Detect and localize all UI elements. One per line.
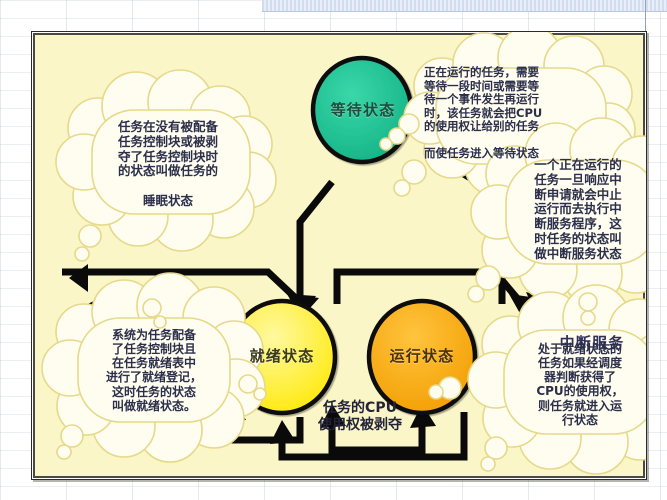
text-line: 的使用权让给别的任务 <box>424 120 612 134</box>
text-line: 的状态叫做任务的 <box>80 164 256 179</box>
text-line: 处于就绪状态的 <box>500 342 647 356</box>
text-line: 任务的CPU <box>294 400 426 417</box>
text-line: 任务控制块或被剥 <box>80 135 256 150</box>
cloud-text-interrupt: 一个正在运行的任务一旦响应中断申请就会中止运行而去执行中断服务程序，这时任务的状… <box>502 158 647 261</box>
text-line: 在任务就绪表中 <box>74 356 234 370</box>
node-label-running: 运行状态 <box>376 345 468 366</box>
diagram-picture-frame[interactable]: 等待状态 就绪状态 运行状态 中断服务 任务在没有被配备任务控制块或被剥夺了任务… <box>31 31 647 480</box>
text-line: 断申请就会中止 <box>502 188 647 203</box>
text-line: 进行了就绪登记， <box>74 370 234 384</box>
text-line: 一个正在运行的 <box>502 158 647 173</box>
text-line: 叫做就绪状态。 <box>74 399 234 413</box>
text-line: 运行而去执行中 <box>502 202 647 217</box>
text-line: 器判断获得了 <box>500 370 647 384</box>
text-line: 时，该任务就会把CPU <box>424 107 612 121</box>
text-line <box>424 134 612 148</box>
text-line: 任务一旦响应中 <box>502 173 647 188</box>
node-label-waiting: 等待状态 <box>317 99 409 120</box>
cloud-text-ready: 系统为任务配备了任务控制块且在任务就绪表中进行了就绪登记，这时任务的状态叫做就绪… <box>74 328 234 413</box>
text-line: 使用权被剥夺 <box>294 417 426 434</box>
text-line: 时任务的状态叫 <box>502 232 647 247</box>
diagram-canvas: 等待状态 就绪状态 运行状态 中断服务 任务在没有被配备任务控制块或被剥夺了任务… <box>32 32 646 479</box>
text-line: 做中断服务状态 <box>502 247 647 262</box>
text-line: 正在运行的任务，需要 <box>424 66 612 80</box>
cloud-text-waiting: 正在运行的任务，需要等待一段时间或需要等待一个事件发生再运行 时，该任务就会把C… <box>424 66 612 161</box>
text-line: 这时任务的状态 <box>74 385 234 399</box>
text-line: 睡眠状态 <box>80 194 256 209</box>
node-label-ready: 就绪状态 <box>236 345 328 366</box>
text-line: 待一个事件发生再运行 <box>424 93 612 107</box>
text-line: 任务在没有被配备 <box>80 120 256 135</box>
text-line: 夺了任务控制块时 <box>80 150 256 165</box>
text-line: 任务如果经调度 <box>500 356 647 370</box>
text-line: 断服务程序，这 <box>502 217 647 232</box>
text-line: 行状态 <box>500 413 647 427</box>
text-line <box>80 179 256 194</box>
text-line: CPU的使用权， <box>500 384 647 398</box>
cloud-text-sleep: 任务在没有被配备任务控制块或被剥夺了任务控制块时的状态叫做任务的 睡眠状态 <box>80 120 256 209</box>
text-line: 系统为任务配备 <box>74 328 234 342</box>
edge-label-cpu-preempt: 任务的CPU使用权被剥夺 <box>294 400 426 434</box>
spreadsheet-band-rule <box>262 11 667 12</box>
spreadsheet-selection-band <box>262 0 667 11</box>
text-line: 则任务就进入运 <box>500 399 647 413</box>
text-line: 了任务控制块且 <box>74 342 234 356</box>
cloud-text-running: 处于就绪状态的任务如果经调度器判断获得了CPU的使用权，则任务就进入运行状态 <box>500 342 647 427</box>
text-line: 等待一段时间或需要等 <box>424 80 612 94</box>
